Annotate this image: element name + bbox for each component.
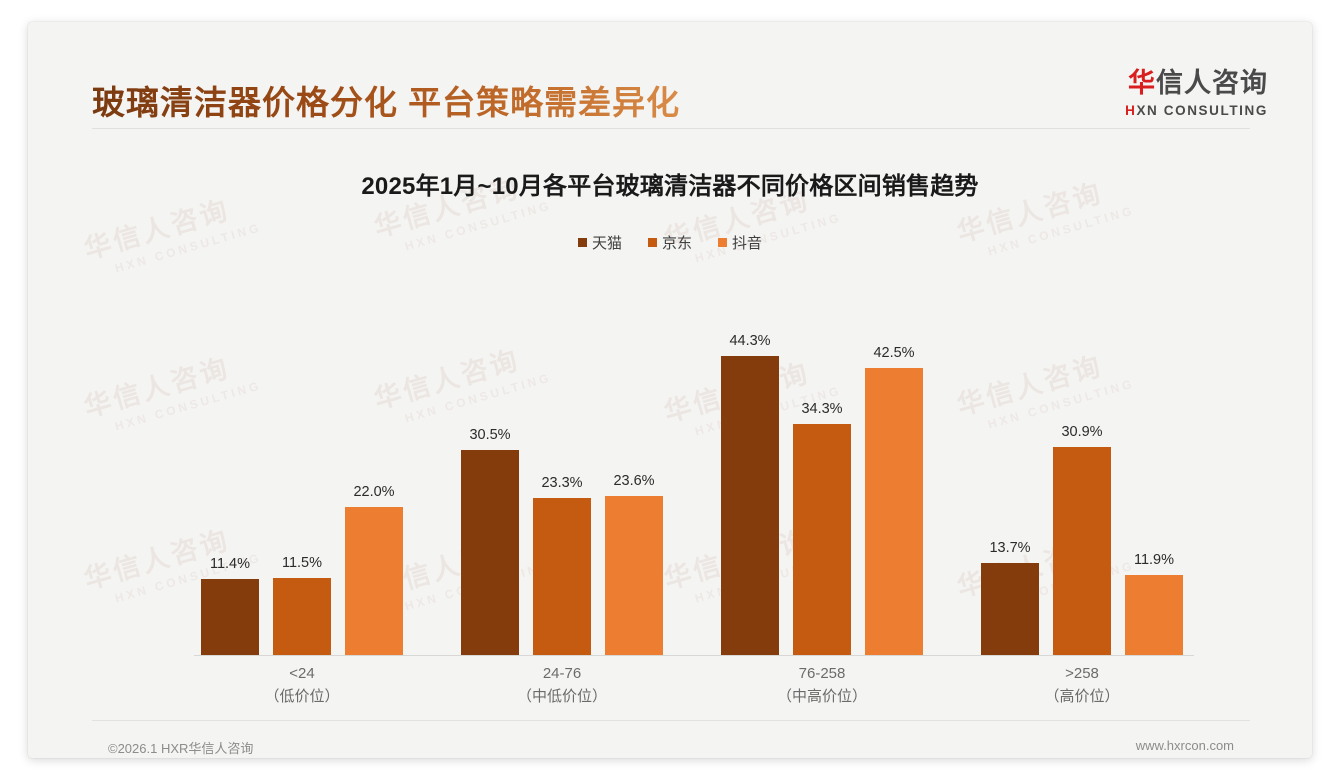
bar-天猫[interactable] <box>461 450 519 656</box>
x-axis-label-range: 76-258 <box>799 665 846 682</box>
bar-value-label: 11.5% <box>282 555 322 571</box>
header-divider <box>92 128 1250 129</box>
bar-value-label: 13.7% <box>989 540 1030 556</box>
bar-column[interactable]: 42.5% <box>865 274 923 656</box>
x-axis-label: 24-76（中低价位） <box>432 662 692 709</box>
bar-column[interactable]: 23.3% <box>533 274 591 656</box>
logo-chinese-text: 华信人咨询 <box>1125 70 1268 97</box>
bar-value-label: 11.4% <box>210 556 250 572</box>
footer-divider <box>92 720 1250 721</box>
chart-title: 2025年1月~10月各平台玻璃清洁器不同价格区间销售趋势 <box>28 166 1312 201</box>
bar-value-label: 44.3% <box>729 333 770 349</box>
bar-column[interactable]: 44.3% <box>721 274 779 656</box>
footer-copyright: ©2026.1 HXR华信人咨询 <box>108 738 253 757</box>
bar-value-label: 23.3% <box>541 475 582 491</box>
bar-value-label: 11.9% <box>1134 552 1174 568</box>
x-axis-label: 76-258（中高价位） <box>692 662 952 709</box>
x-axis-label-tier: （中高价位） <box>692 685 952 708</box>
x-axis-label: <24（低价位） <box>172 662 432 709</box>
logo-en-accent: H <box>1125 103 1136 118</box>
bar-group: 30.5%23.3%23.6% <box>432 274 692 656</box>
x-axis-label-range: 24-76 <box>543 665 581 682</box>
bar-column[interactable]: 34.3% <box>793 274 851 656</box>
bar-抖音[interactable] <box>865 368 923 656</box>
bar-抖音[interactable] <box>1125 575 1183 656</box>
slide-card: 华信人咨询HXN CONSULTING 华信人咨询HXN CONSULTING … <box>28 22 1312 758</box>
bar-value-label: 30.5% <box>469 427 510 443</box>
legend-label: 天猫 <box>592 232 622 253</box>
legend-label: 抖音 <box>732 232 762 253</box>
logo-english-text: HXN CONSULTING <box>1125 104 1268 118</box>
x-axis-labels: <24（低价位）24-76（中低价位）76-258（中高价位）>258（高价位） <box>172 662 1212 709</box>
bar-column[interactable]: 23.6% <box>605 274 663 656</box>
bar-column[interactable]: 30.5% <box>461 274 519 656</box>
logo-accent-char: 华 <box>1128 68 1156 98</box>
bar-京东[interactable] <box>1053 447 1111 656</box>
legend-swatch-icon <box>578 238 587 247</box>
x-axis-line <box>194 655 1194 656</box>
x-axis-label-tier: （中低价位） <box>432 685 692 708</box>
bar-group: 11.4%11.5%22.0% <box>172 274 432 656</box>
x-axis-label-tier: （低价位） <box>172 685 432 708</box>
bar-value-label: 23.6% <box>613 473 654 489</box>
x-axis-label: >258（高价位） <box>952 662 1212 709</box>
bar-天猫[interactable] <box>981 563 1039 656</box>
page-title: 玻璃清洁器价格分化 平台策略需差异化 <box>92 76 680 124</box>
legend-swatch-icon <box>648 238 657 247</box>
logo-en-rest: XN CONSULTING <box>1136 103 1268 118</box>
bar-group: 44.3%34.3%42.5% <box>692 274 952 656</box>
bar-column[interactable]: 11.5% <box>273 274 331 656</box>
bar-column[interactable]: 13.7% <box>981 274 1039 656</box>
bar-group: 13.7%30.9%11.9% <box>952 274 1212 656</box>
bar-column[interactable]: 30.9% <box>1053 274 1111 656</box>
bar-抖音[interactable] <box>345 507 403 656</box>
legend-item-jd[interactable]: 京东 <box>648 232 692 253</box>
bar-column[interactable]: 22.0% <box>345 274 403 656</box>
slide-header: 玻璃清洁器价格分化 平台策略需差异化 华信人咨询 HXN CONSULTING <box>28 22 1312 134</box>
bar-value-label: 42.5% <box>873 345 914 361</box>
footer-website: www.hxrcon.com <box>1136 738 1234 753</box>
bar-column[interactable]: 11.9% <box>1125 274 1183 656</box>
bar-column[interactable]: 11.4% <box>201 274 259 656</box>
x-axis-label-range: <24 <box>289 665 314 682</box>
legend-item-douyin[interactable]: 抖音 <box>718 232 762 253</box>
x-axis-label-tier: （高价位） <box>952 685 1212 708</box>
bar-value-label: 34.3% <box>801 401 842 417</box>
bar-抖音[interactable] <box>605 496 663 656</box>
bar-京东[interactable] <box>533 498 591 656</box>
legend-label: 京东 <box>662 232 692 253</box>
bar-天猫[interactable] <box>721 356 779 656</box>
chart-legend: 天猫 京东 抖音 <box>28 232 1312 253</box>
bar-京东[interactable] <box>793 424 851 656</box>
logo-rest-chars: 信人咨询 <box>1156 68 1268 98</box>
legend-item-tmall[interactable]: 天猫 <box>578 232 622 253</box>
bar-groups: 11.4%11.5%22.0%30.5%23.3%23.6%44.3%34.3%… <box>172 274 1212 656</box>
brand-logo: 华信人咨询 HXN CONSULTING <box>1125 70 1268 118</box>
bar-value-label: 30.9% <box>1061 424 1102 440</box>
bar-value-label: 22.0% <box>353 484 394 500</box>
x-axis-label-range: >258 <box>1065 665 1099 682</box>
bar-天猫[interactable] <box>201 579 259 656</box>
chart-plot-area: 11.4%11.5%22.0%30.5%23.3%23.6%44.3%34.3%… <box>172 274 1212 656</box>
bar-京东[interactable] <box>273 578 331 656</box>
legend-swatch-icon <box>718 238 727 247</box>
